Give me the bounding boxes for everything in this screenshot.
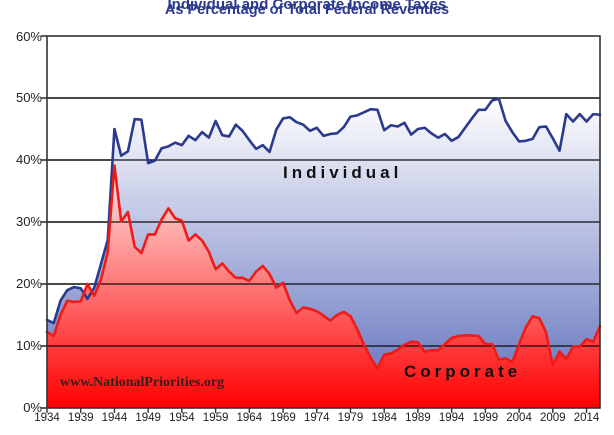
chart-canvas [0, 0, 614, 435]
x-tick-2014: 2014 [567, 412, 607, 424]
y-tick-30: 30% [0, 214, 42, 229]
plot-group [41, 36, 600, 413]
series-label-corporate: Corporate [404, 362, 521, 382]
watermark-nationalpriorities: www.NationalPriorities.org [60, 375, 224, 391]
y-tick-20: 20% [0, 276, 42, 291]
y-tick-40: 40% [0, 152, 42, 167]
y-tick-10: 10% [0, 338, 42, 353]
y-tick-50: 50% [0, 90, 42, 105]
series-label-individual: Individual [283, 163, 402, 183]
y-tick-60: 60% [0, 29, 42, 44]
chart-root: Individual and Corporate Income Taxes As… [0, 0, 614, 435]
